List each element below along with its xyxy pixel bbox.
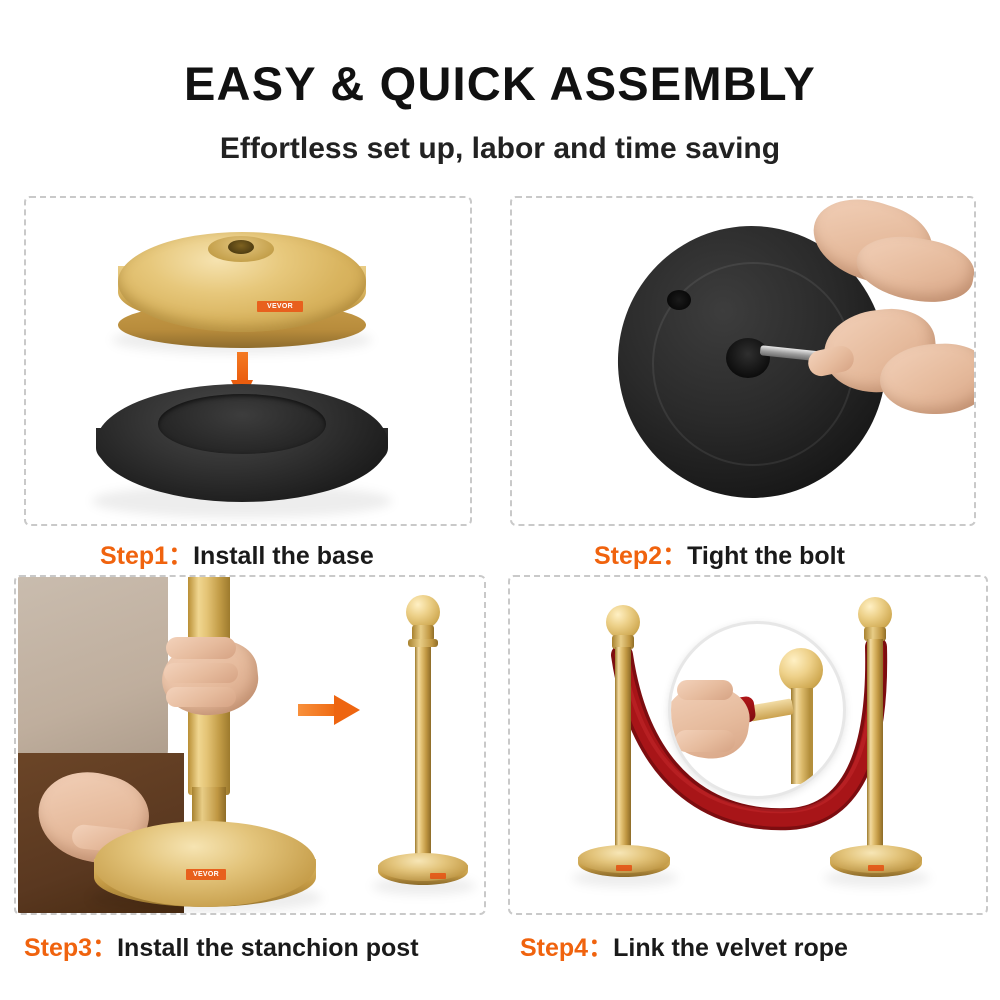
page-subtitle: Effortless set up, labor and time saving — [0, 132, 1000, 166]
step-3-illustration: VEVOR — [16, 577, 484, 913]
step-4-text: Link the velvet rope — [613, 934, 848, 962]
finger-lower — [166, 687, 236, 707]
shadow-stanchion-right — [824, 869, 930, 887]
assembly-direction-arrow-icon — [298, 695, 360, 725]
step-3-text: Install the stanchion post — [117, 934, 418, 962]
step-4-illustration — [510, 577, 986, 913]
step-2-separator: ： — [662, 542, 687, 570]
step-2-text: Tight the bolt — [687, 542, 845, 570]
step-3-separator: ： — [92, 934, 117, 962]
stanchion-collar — [408, 639, 438, 647]
page-title: EASY & QUICK ASSEMBLY — [0, 56, 1000, 111]
finger-top — [166, 637, 236, 659]
stanchion-right-pole — [867, 639, 883, 861]
shadow-stanchion-left — [572, 869, 678, 887]
finger-middle — [164, 663, 238, 683]
assembly-infographic: EASY & QUICK ASSEMBLY Effortless set up,… — [0, 0, 1000, 1000]
gold-cover-bolt-hole — [228, 240, 254, 254]
stanchion-right-ball — [858, 597, 892, 631]
step-2-label: Step2 — [594, 542, 662, 570]
detail-stanchion-ball — [779, 648, 823, 692]
detail-thumb — [675, 730, 735, 752]
detail-finger — [677, 680, 733, 700]
detail-stanchion-pole — [791, 688, 813, 784]
step-1-label: Step1 — [100, 542, 168, 570]
person-sweater — [18, 577, 168, 777]
step-4-caption: Step4：Link the velvet rope — [520, 928, 848, 964]
detail-zoom-callout — [668, 621, 846, 799]
black-base-recess — [158, 394, 326, 454]
vevor-label: VEVOR — [186, 869, 226, 880]
step-1-separator: ： — [168, 542, 193, 570]
step-1-caption: Step1：Install the base — [100, 536, 374, 572]
step-3-caption: Step3：Install the stanchion post — [24, 928, 419, 964]
step-4-separator: ： — [588, 934, 613, 962]
stanchion-pole — [415, 647, 431, 869]
stanchion-left-ball — [606, 605, 640, 639]
base-vent-hole — [667, 290, 691, 310]
vevor-label: VEVOR — [257, 301, 303, 312]
step-1-text: Install the base — [193, 542, 374, 570]
step-4-label: Step4 — [520, 934, 588, 962]
step-1-image-panel: VEVOR — [24, 196, 472, 526]
step-4-image-panel — [508, 575, 988, 915]
step-3-image-panel: VEVOR — [14, 575, 486, 915]
step-2-caption: Step2：Tight the bolt — [594, 536, 845, 572]
stanchion-left-pole — [615, 647, 631, 861]
step-1-illustration: VEVOR — [26, 198, 470, 524]
step-2-image-panel — [510, 196, 976, 526]
gold-base-top — [94, 821, 316, 907]
stanchion-ball-top — [406, 595, 440, 629]
shadow-assembled-stanchion — [372, 877, 476, 895]
step-3-label: Step3 — [24, 934, 92, 962]
base-center-bolt-hole — [726, 338, 770, 378]
step-2-illustration — [512, 198, 974, 524]
